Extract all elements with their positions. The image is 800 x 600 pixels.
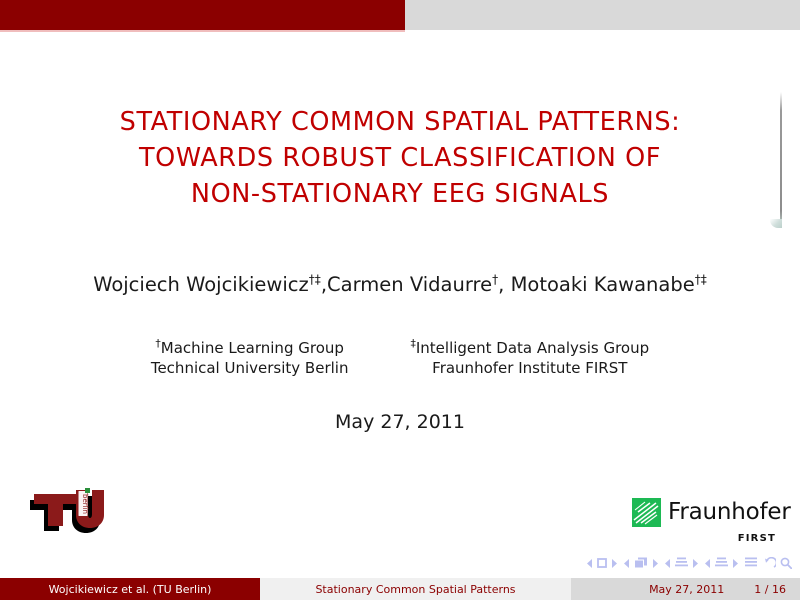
- affiliation-list: †Machine Learning Group Technical Univer…: [0, 338, 800, 378]
- nav-group-slide[interactable]: [587, 558, 617, 568]
- back-arrow-icon[interactable]: [764, 557, 776, 569]
- slide-footer: Wojcikiewicz et al. (TU Berlin) Stationa…: [0, 578, 800, 600]
- beamer-navigation-symbols[interactable]: [587, 553, 792, 573]
- fraunhofer-wordmark: Fraunhofer: [668, 501, 791, 524]
- triangle-right-icon[interactable]: [732, 559, 738, 568]
- triangle-right-icon[interactable]: [692, 559, 698, 568]
- author-separator-2: ,: [498, 273, 510, 296]
- triangle-left-icon[interactable]: [665, 559, 671, 568]
- nav-group-back-find[interactable]: [764, 557, 792, 569]
- author-3-name: Motoaki Kawanabe: [511, 273, 695, 296]
- page-title: STATIONARY COMMON SPATIAL PATTERNS: TOWA…: [0, 104, 800, 212]
- header-bar-gray: [0, 0, 800, 30]
- header-bar-red: [0, 0, 405, 30]
- fraunhofer-institute-name: FIRST: [632, 533, 778, 544]
- nav-group-document[interactable]: [745, 557, 757, 569]
- header-bar-underline: [0, 30, 405, 32]
- nav-group-subsection[interactable]: [665, 557, 698, 569]
- footer-date: May 27, 2011: [649, 583, 724, 596]
- triangle-left-icon[interactable]: [624, 559, 630, 568]
- title-line-1: STATIONARY COMMON SPATIAL PATTERNS:: [0, 104, 800, 140]
- affiliation-2-line-1: ‡Intelligent Data Analysis Group: [410, 338, 649, 358]
- affiliation-2-group: Intelligent Data Analysis Group: [416, 339, 649, 357]
- frame-stack-icon[interactable]: [634, 557, 648, 569]
- affiliation-1-line-2: Technical University Berlin: [151, 358, 349, 378]
- footer-page-number: 1 / 16: [754, 583, 786, 596]
- affiliation-1-line-1: †Machine Learning Group: [151, 338, 349, 358]
- presentation-date: May 27, 2011: [0, 411, 800, 433]
- slide-square-icon[interactable]: [597, 558, 607, 568]
- title-line-3: NON-STATIONARY EEG SIGNALS: [0, 176, 800, 212]
- fraunhofer-mark-icon: [632, 498, 661, 527]
- nav-group-section[interactable]: [705, 557, 738, 569]
- affiliation-1: †Machine Learning Group Technical Univer…: [151, 338, 349, 378]
- fraunhofer-logo: Fraunhofer FIRST: [632, 498, 778, 544]
- title-line-2: TOWARDS ROBUST CLASSIFICATION OF: [0, 140, 800, 176]
- footer-title: Stationary Common Spatial Patterns: [260, 578, 571, 600]
- document-lines-icon[interactable]: [745, 557, 757, 569]
- triangle-left-icon[interactable]: [587, 559, 593, 568]
- author-2-name: Carmen Vidaurre: [327, 273, 492, 296]
- triangle-left-icon[interactable]: [705, 559, 711, 568]
- section-lines-icon[interactable]: [715, 557, 728, 569]
- triangle-right-icon[interactable]: [652, 559, 658, 568]
- svg-text:berlin: berlin: [81, 494, 89, 514]
- triangle-right-icon[interactable]: [611, 559, 617, 568]
- author-1-name: Wojciech Wojcikiewicz: [93, 273, 309, 296]
- nav-group-frame[interactable]: [624, 557, 658, 569]
- fraunhofer-logo-row: Fraunhofer: [632, 498, 778, 527]
- affiliation-1-group: Machine Learning Group: [161, 339, 344, 357]
- affiliation-2: ‡Intelligent Data Analysis Group Fraunho…: [410, 338, 649, 378]
- search-icon[interactable]: [780, 557, 792, 569]
- footer-author: Wojcikiewicz et al. (TU Berlin): [0, 578, 260, 600]
- footer-meta: May 27, 2011 1 / 16: [571, 578, 800, 600]
- subsection-lines-icon[interactable]: [675, 557, 688, 569]
- affiliation-2-line-2: Fraunhofer Institute FIRST: [410, 358, 649, 378]
- author-list: Wojciech Wojcikiewicz†‡,Carmen Vidaurre†…: [0, 272, 800, 298]
- author-3-affiliation-marks: †‡: [695, 273, 707, 287]
- title-block-shadow-foot: [770, 219, 782, 228]
- tu-berlin-logo: berlin: [28, 482, 106, 540]
- presentation-slide: STATIONARY COMMON SPATIAL PATTERNS: TOWA…: [0, 0, 800, 600]
- author-1-affiliation-marks: †‡: [309, 273, 321, 287]
